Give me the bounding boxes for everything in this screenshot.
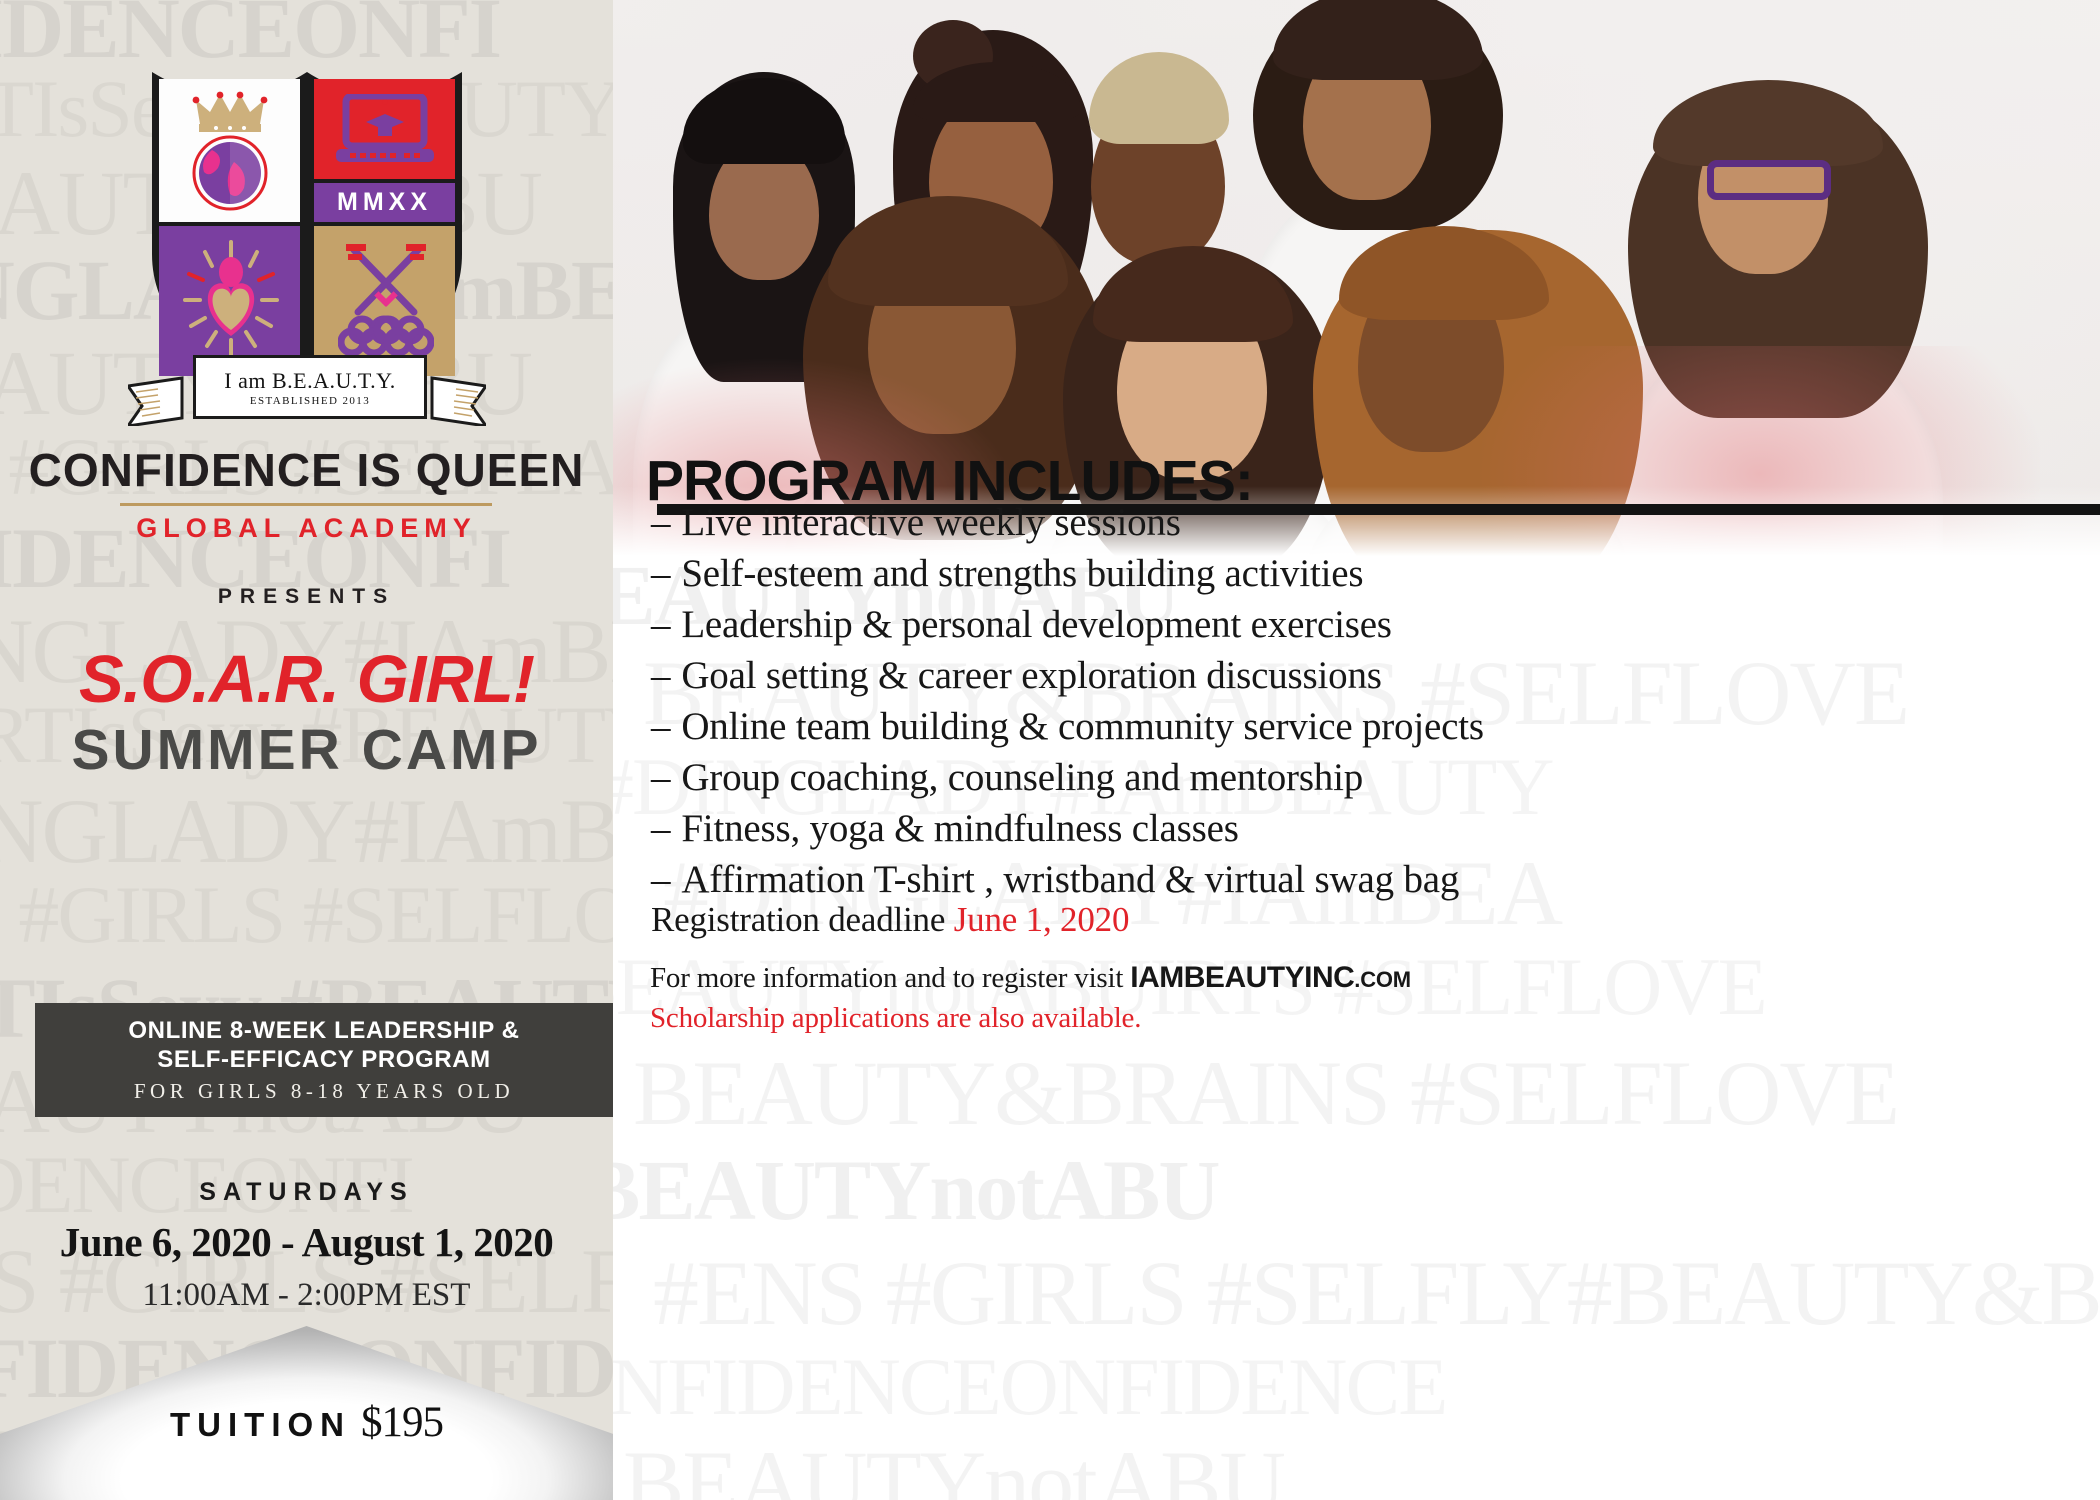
watermark-row: ONFIDENCEONFIDENCE — [613, 1340, 1446, 1434]
list-item: –Online team building & community servic… — [651, 704, 2071, 750]
website-link[interactable]: IAMBEAUTYINC — [1130, 961, 1354, 994]
deadline-prefix: Registration deadline — [651, 900, 954, 939]
tuition-block: TUITION$195 — [0, 1398, 613, 1447]
list-item: –Fitness, yoga & mindfulness classes — [651, 806, 2071, 852]
bullet-dash: – — [651, 807, 670, 850]
program-banner-line1: ONLINE 8-WEEK LEADERSHIP & — [35, 1016, 613, 1045]
laptop-graduation-icon — [334, 94, 436, 166]
footer-line-1: For more information and to register vis… — [650, 958, 1411, 999]
presents-label: PRESENTS — [0, 585, 613, 609]
list-item: –Group coaching, counseling and mentorsh… — [651, 755, 2071, 801]
watermark-row: BEAUTYnotABU — [613, 1140, 1218, 1240]
bullet-dash: – — [651, 858, 670, 901]
list-item-label: Group coaching, counseling and mentorshi… — [681, 756, 1363, 799]
ribbon-left — [128, 374, 198, 426]
shield: MMXX — [152, 58, 462, 388]
heart-person-icon — [183, 238, 279, 360]
crown-globe-icon — [182, 90, 278, 214]
registration-deadline: Registration deadline June 1, 2020 — [651, 900, 1129, 940]
camp-subtitle: SUMMER CAMP — [0, 717, 613, 783]
schedule-time: 11:00AM - 2:00PM EST — [0, 1277, 613, 1314]
list-item: –Self-esteem and strengths building acti… — [651, 551, 2071, 597]
bullet-dash: – — [651, 654, 670, 697]
crest-logo: MMXX — [152, 58, 462, 418]
crest-established: ESTABLISHED 2013 — [250, 395, 370, 407]
website-tld[interactable]: .COM — [1354, 967, 1411, 992]
left-panel: NFIDENCEONFI #ARTIsSexy #BEAUTY&BR BEAUT… — [0, 0, 613, 1500]
eyeglasses-icon — [1707, 160, 1831, 200]
program-banner-line2: SELF-EFFICACY PROGRAM — [35, 1045, 613, 1074]
deadline-date: June 1, 2020 — [954, 900, 1130, 939]
schedule-dates: June 6, 2020 - August 1, 2020 — [0, 1218, 613, 1266]
program-banner-age: FOR GIRLS 8-18 YEARS OLD — [35, 1079, 613, 1104]
watermark-row: BEAUTYnotABU — [623, 1430, 1284, 1500]
program-banner: ONLINE 8-WEEK LEADERSHIP & SELF-EFFICACY… — [35, 1003, 613, 1117]
list-item-label: Affirmation T-shirt , wristband & virtua… — [681, 858, 1459, 901]
list-item-label: Leadership & personal development exerci… — [681, 603, 1391, 646]
list-item: –Goal setting & career exploration discu… — [651, 653, 2071, 699]
list-item-label: Goal setting & career exploration discus… — [681, 654, 1381, 697]
bullet-dash: – — [651, 603, 670, 646]
list-item-label: Live interactive weekly sessions — [681, 501, 1180, 544]
crossed-keys-icon — [338, 240, 434, 358]
tuition-value: $195 — [361, 1399, 443, 1446]
bullet-dash: – — [651, 552, 670, 595]
list-item-label: Self-esteem and strengths building activ… — [681, 552, 1363, 595]
watermark-row: #ENS #GIRLS #SELFLY#BEAUTY&BRAINS — [653, 1240, 2100, 1346]
footer-info: For more information and to register vis… — [650, 958, 1411, 1038]
list-item: –Live interactive weekly sessions — [651, 500, 2071, 546]
tuition-label: TUITION — [170, 1406, 351, 1443]
gold-divider — [120, 503, 492, 506]
organization-name: CONFIDENCE IS QUEEN — [0, 443, 613, 497]
flyer-root: NFIDENCEONFI BEAUTYnotABU #ARTIsSexy #BE… — [0, 0, 2100, 1500]
schedule-day: SATURDAYS — [0, 1178, 613, 1207]
camp-title: S.O.A.R. GIRL! — [0, 641, 613, 718]
scholarship-note: Scholarship applications are also availa… — [650, 999, 1411, 1038]
bullet-dash: – — [651, 756, 670, 799]
list-item: –Leadership & personal development exerc… — [651, 602, 2071, 648]
footer-prefix: For more information and to register vis… — [650, 962, 1130, 994]
organization-subtitle: GLOBAL ACADEMY — [0, 513, 613, 544]
crest-name: I am B.E.A.U.T.Y. — [224, 368, 395, 394]
crest-name-banner: I am B.E.A.U.T.Y. ESTABLISHED 2013 — [193, 355, 427, 419]
list-item-label: Online team building & community service… — [681, 705, 1484, 748]
program-banner-headline: ONLINE 8-WEEK LEADERSHIP & SELF-EFFICACY… — [35, 1016, 613, 1074]
list-item-label: Fitness, yoga & mindfulness classes — [681, 807, 1238, 850]
crest-year: MMXX — [314, 183, 455, 222]
watermark-row: BEAUTY&BRAINS #SELFLOVE — [633, 1040, 1898, 1146]
list-item: –Affirmation T-shirt , wristband & virtu… — [651, 857, 2071, 903]
program-includes-list: –Live interactive weekly sessions –Self-… — [651, 500, 2071, 908]
bullet-dash: – — [651, 705, 670, 748]
bullet-dash: – — [651, 501, 670, 544]
